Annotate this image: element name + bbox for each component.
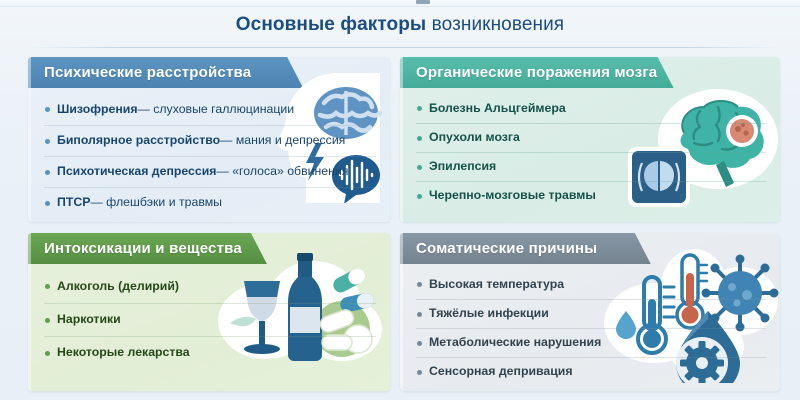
list-item-lead: Наркотики [57, 312, 121, 327]
list-item-lead: Некоторые лекарства [57, 345, 190, 360]
card-organic-brain-damage[interactable]: Органические поражения мозга [400, 57, 780, 222]
list-item-lead: Алкоголь (делирий) [57, 279, 179, 294]
list-mental-disorders: Шизофрения — слуховые галлюцинации Бипол… [44, 88, 376, 218]
card-header-mental-disorders: Психические расстройства [28, 57, 303, 88]
page-title-strong: Основные факторы [236, 14, 426, 35]
list-item-lead: ПТСР [57, 195, 90, 210]
list-item-rest: — слуховые галлюцинации [138, 102, 295, 117]
list-item[interactable]: ПТСР — флешбэки и травмы [44, 187, 376, 218]
factors-card-grid: Психические расстройства [28, 57, 780, 391]
list-item-lead: Болезнь Альцгеймера [429, 101, 566, 116]
list-item[interactable]: Эпилепсия [416, 152, 766, 181]
list-item[interactable]: Метаболические нарушения [416, 328, 766, 357]
list-item-lead: Шизофрения [57, 102, 138, 117]
page-title: Основные факторы возникновения [0, 14, 800, 36]
list-item[interactable]: Высокая температура [416, 270, 766, 299]
list-item[interactable]: Черепно-мозговые травмы [416, 181, 766, 210]
list-item-lead: Черепно-мозговые травмы [429, 188, 596, 203]
list-item[interactable]: Психотическая депрессия — «голоса» обвин… [44, 156, 376, 187]
card-header-organic-brain-damage: Органические поражения мозга [400, 57, 674, 88]
list-item-lead: Высокая температура [429, 277, 564, 292]
list-organic-brain-damage: Болезнь Альцгеймера Опухоли мозга Эпилеп… [416, 88, 766, 210]
list-item[interactable]: Шизофрения — слуховые галлюцинации [44, 94, 376, 125]
list-item[interactable]: Опухоли мозга [416, 123, 766, 152]
page-title-light: возникновения [426, 14, 564, 35]
list-item-lead: Биполярное расстройство [57, 133, 220, 148]
list-item-lead: Психотическая депрессия [57, 164, 216, 179]
list-item-lead: Тяжёлые инфекции [429, 306, 549, 321]
list-item-lead: Эпилепсия [429, 159, 496, 174]
list-item-rest: — флешбэки и травмы [90, 195, 222, 210]
card-intoxication-substances[interactable]: Интоксикации и вещества [28, 233, 390, 391]
list-item[interactable]: Сенсорная депривация [416, 357, 766, 386]
top-edge-sliver [0, 0, 800, 7]
list-intoxication-substances: Алкоголь (делирий) Наркотики Некоторые л… [44, 264, 376, 369]
list-item[interactable]: Наркотики [44, 303, 376, 336]
list-item[interactable]: Биполярное расстройство — мания и депрес… [44, 125, 376, 156]
list-item-lead: Сенсорная депривация [429, 364, 573, 379]
card-header-intoxication-substances: Интоксикации и вещества [28, 233, 267, 264]
list-item[interactable]: Алкоголь (делирий) [44, 270, 376, 303]
card-header-somatic-causes: Соматические причины [400, 233, 651, 264]
card-somatic-causes[interactable]: Соматические причины [400, 233, 780, 391]
list-item-rest: — мания и депрессия [220, 133, 345, 148]
title-divider [28, 47, 780, 48]
list-item-lead: Опухоли мозга [429, 130, 520, 145]
cut-off-element-mark [416, 0, 430, 4]
list-item-lead: Метаболические нарушения [429, 335, 601, 350]
card-mental-disorders[interactable]: Психические расстройства [28, 57, 390, 222]
list-item[interactable]: Болезнь Альцгеймера [416, 94, 766, 123]
list-item-rest: — «голоса» обвинения [216, 164, 348, 179]
list-item[interactable]: Некоторые лекарства [44, 336, 376, 369]
list-item[interactable]: Тяжёлые инфекции [416, 299, 766, 328]
list-somatic-causes: Высокая температура Тяжёлые инфекции Мет… [416, 264, 766, 386]
